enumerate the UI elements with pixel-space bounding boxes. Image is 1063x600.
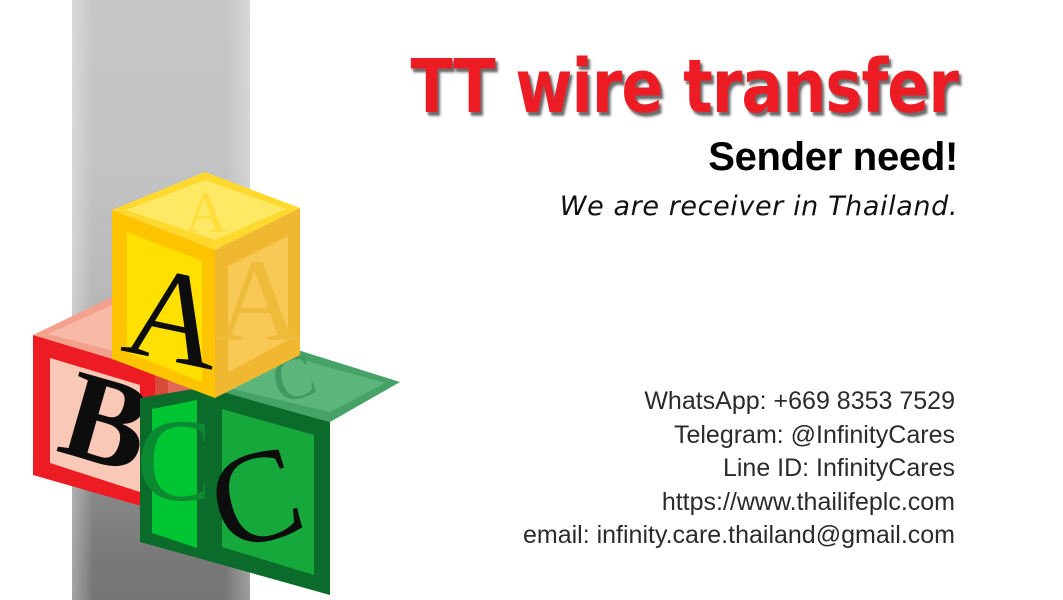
contact-line-lineid[interactable]: Line ID: InfinityCares (523, 452, 955, 486)
contact-line-email[interactable]: email: infinity.care.thailand@gmail.com (523, 519, 955, 553)
page-title: TT wire transfer (346, 48, 958, 126)
contact-line-telegram[interactable]: Telegram: @InfinityCares (523, 419, 955, 453)
business-card-banner: B C C C (0, 0, 1063, 600)
contact-block: WhatsApp: +669 8353 7529 Telegram: @Infi… (523, 385, 955, 553)
contact-line-website[interactable]: https://www.thailifeplc.com (523, 486, 955, 520)
headline-tagline: We are receiver in Thailand. (300, 190, 958, 224)
contact-line-whatsapp[interactable]: WhatsApp: +669 8353 7529 (523, 385, 955, 419)
headline-area: TT wire transfer Sender need! We are rec… (300, 48, 958, 224)
block-a-yellow: A A A (112, 172, 301, 398)
headline-subtitle: Sender need! (300, 134, 958, 180)
